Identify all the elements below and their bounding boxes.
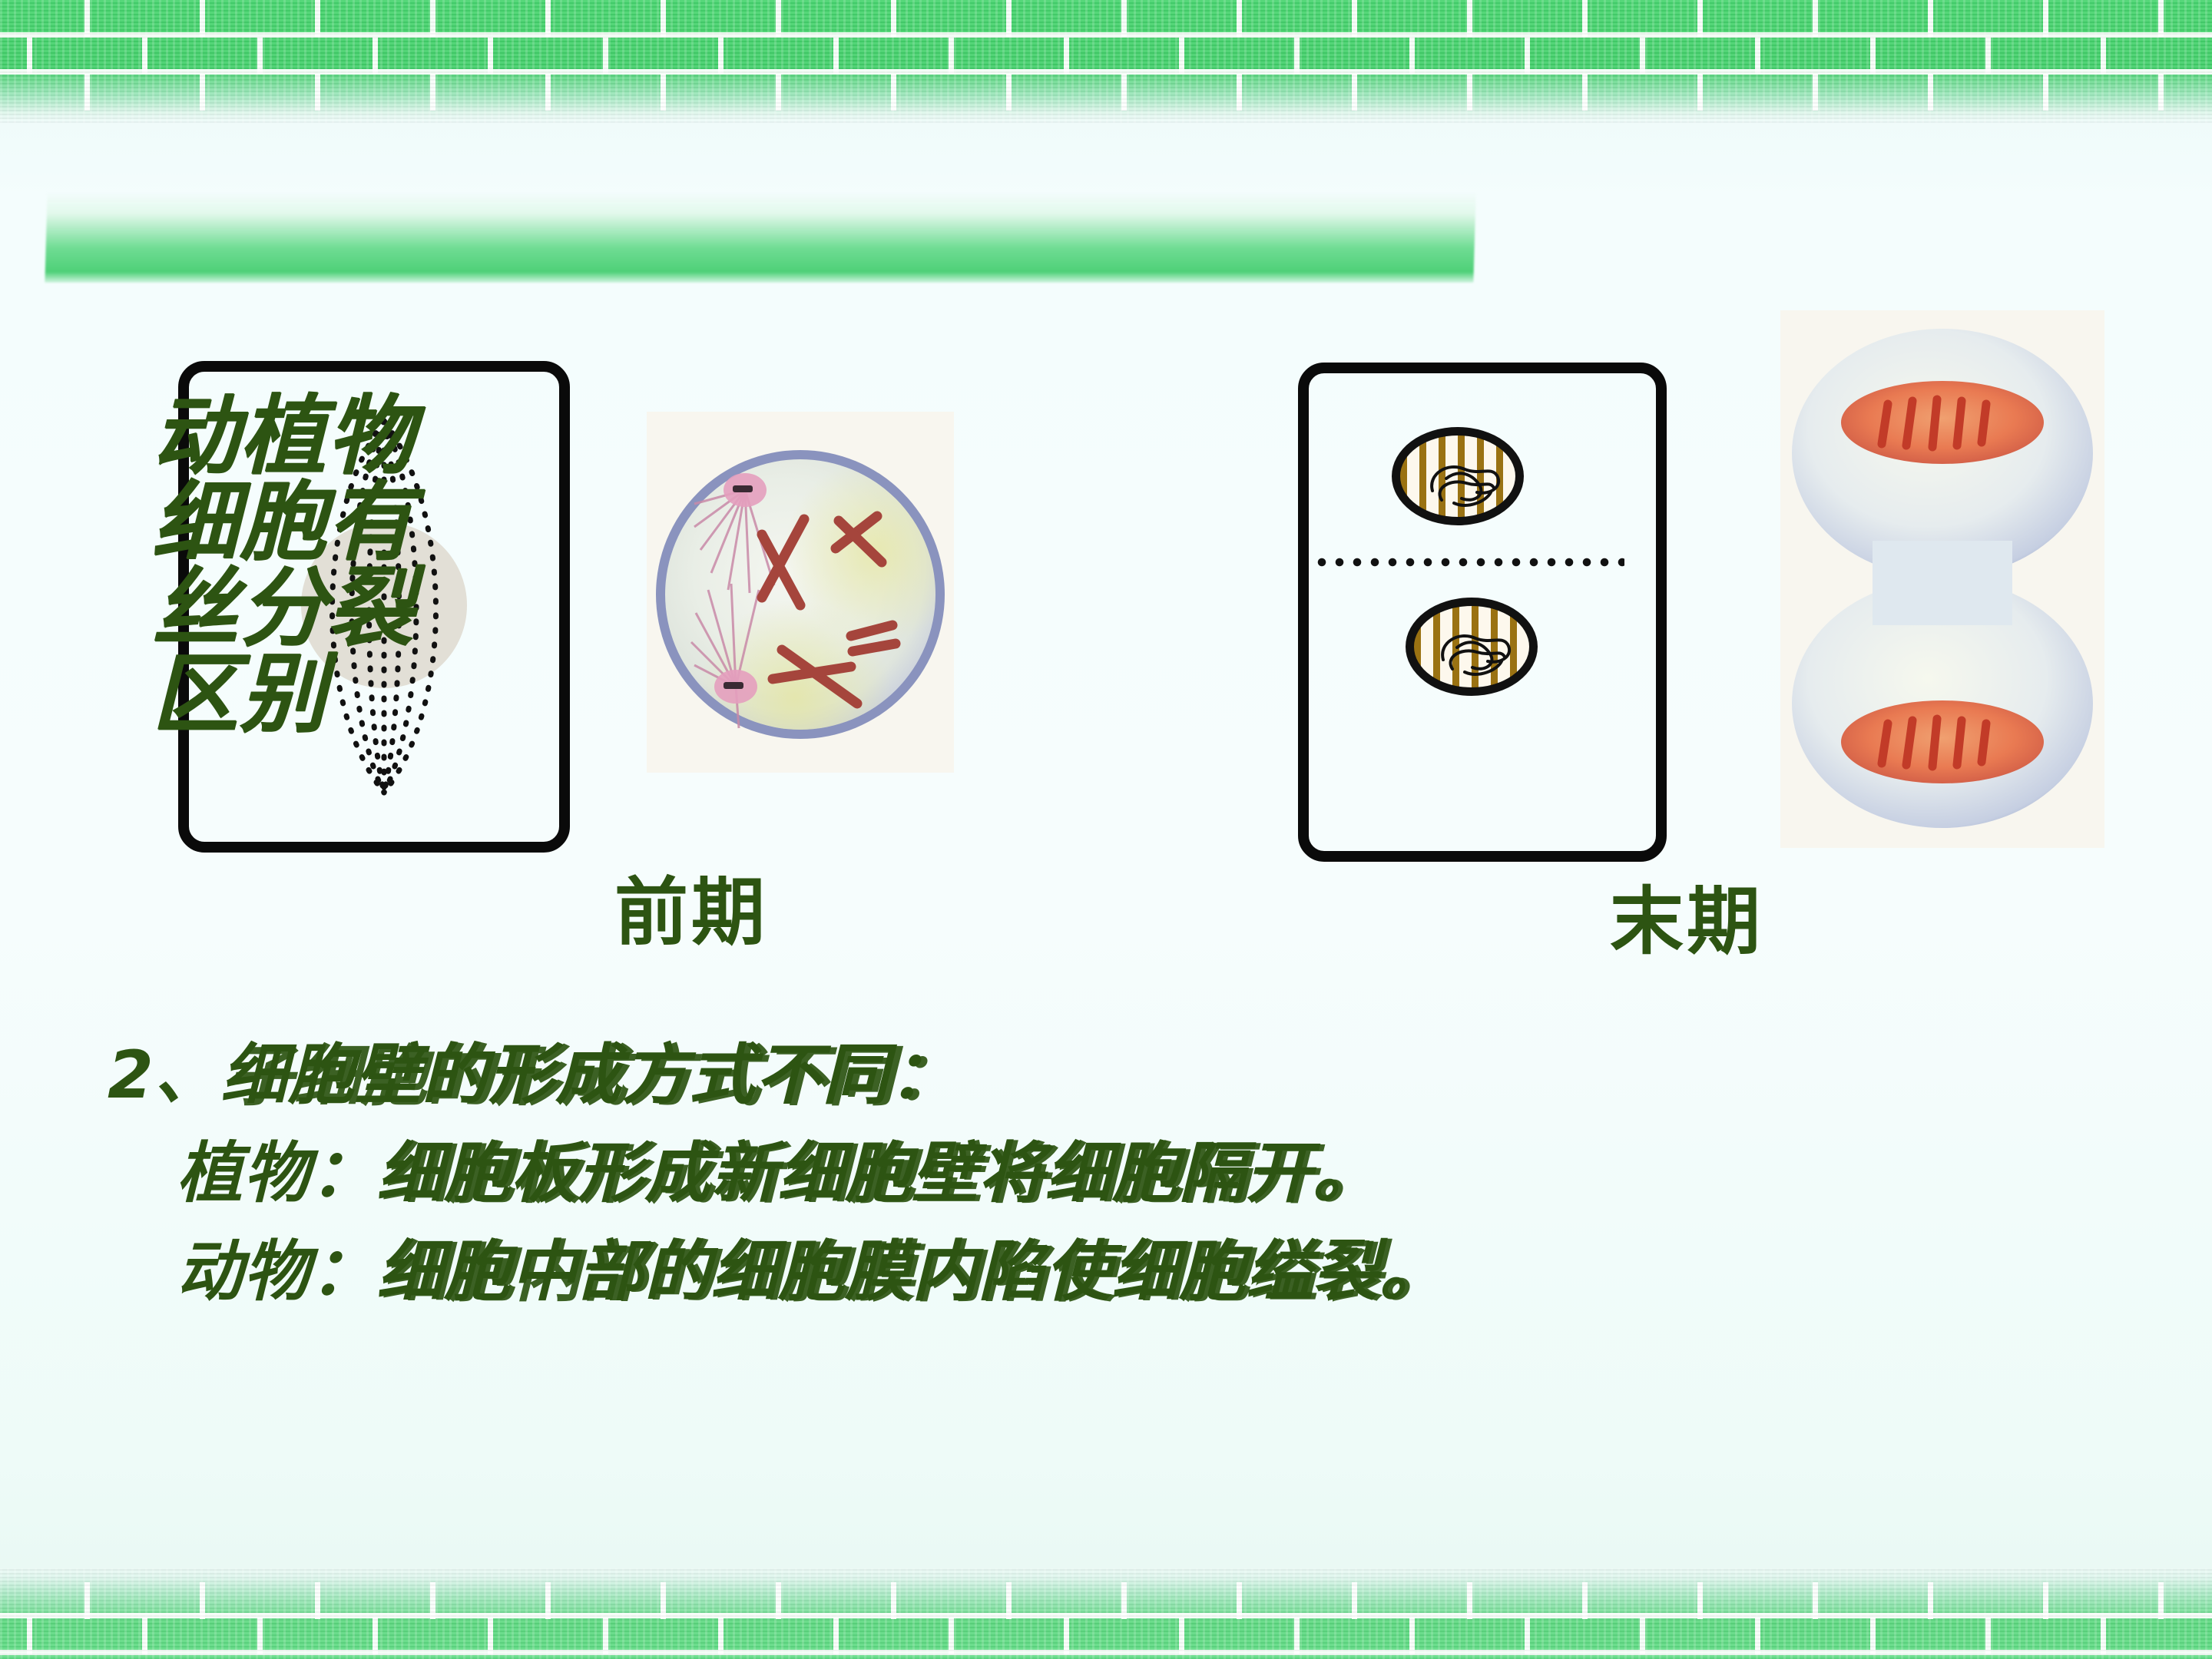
overlay-title: 动植物 细胞有 丝分裂 区别 (152, 393, 551, 737)
animal-prophase-cell-icon (647, 412, 954, 773)
cell-plate-dotted-line (1317, 558, 1624, 567)
plant-label: 植物： (177, 1135, 377, 1212)
body-text-block: 2、细胞壁的形成方式不同： 2、子细胞的形成方式不同： 植物：细胞板形成新细胞壁… (108, 1026, 2181, 1321)
heading-text: 细胞壁的形成方式不同： (221, 1037, 956, 1114)
animal-telophase-cell-icon (1780, 310, 2104, 848)
body-line-animal: 动物：细胞中部的细胞膜内陷使细胞缢裂。 动物：细胞内部的细胞膜内陷使细胞缢裂。 (108, 1223, 2181, 1321)
label-prophase: 前期 (614, 876, 768, 949)
animal-prophase-image (647, 412, 954, 773)
animal-text: 细胞中部的细胞膜内陷使细胞缢裂。 (377, 1233, 1446, 1310)
chromatin-icon (1400, 435, 1532, 534)
label-telophase: 末期 (1610, 885, 1763, 959)
slide-canvas: .fib { fill:none; stroke:#111; stroke-wi… (0, 0, 2212, 1659)
daughter-nucleus-bottom (1406, 598, 1538, 696)
daughter-nucleus-top (1392, 427, 1524, 525)
bottom-brick-border (0, 1568, 2212, 1659)
chromatin-icon (1414, 606, 1546, 704)
top-brick-border (0, 0, 2212, 123)
plant-text: 细胞板形成新细胞壁将细胞隔开。 (377, 1135, 1379, 1212)
heading-number: 2、 (108, 1037, 221, 1114)
animal-telophase-image (1780, 310, 2104, 848)
body-heading-line: 2、细胞壁的形成方式不同： 2、子细胞的形成方式不同： (108, 1026, 2181, 1124)
body-line-plant: 植物：细胞板形成新细胞壁将细胞隔开。 植物：细胞板形成新细胞壁将细胞隔开。 (108, 1124, 2181, 1223)
animal-label: 动物： (177, 1233, 377, 1310)
title-banner (45, 192, 1475, 283)
